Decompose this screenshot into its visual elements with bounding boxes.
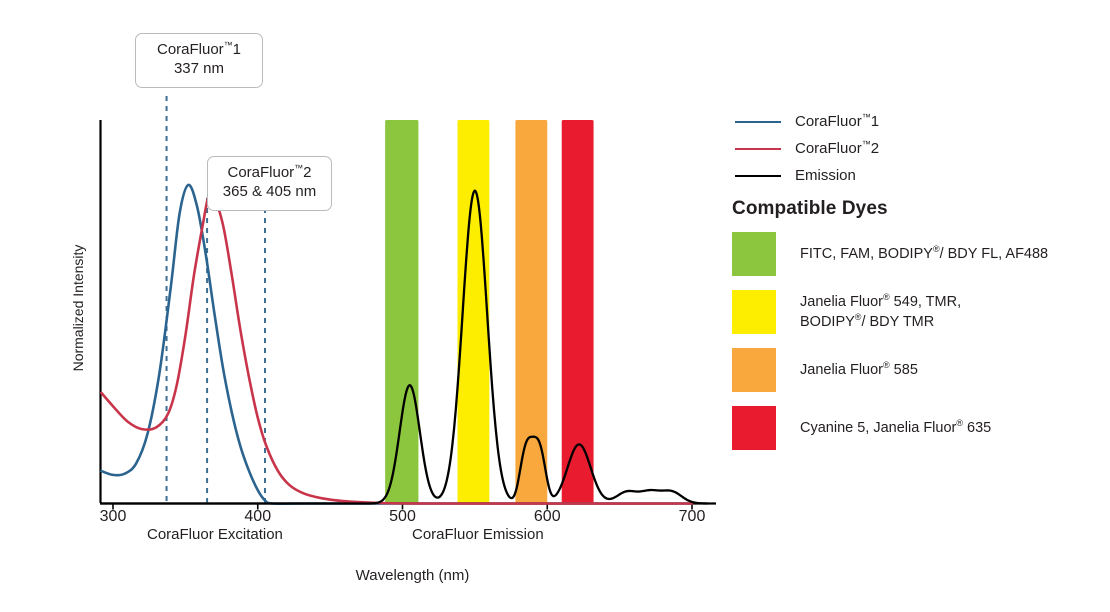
registered-icon: ® <box>883 360 890 370</box>
x-tick-label-600: 600 <box>517 508 577 526</box>
series-legend: CoraFluor™1CoraFluor™2Emission <box>730 108 1110 189</box>
dye-color-swatch <box>732 406 776 450</box>
dye-color-swatch <box>732 348 776 392</box>
x-tick-label-300: 300 <box>83 508 143 526</box>
emission-range-label: CoraFluor Emission <box>412 526 544 543</box>
x-tick-label-400: 400 <box>228 508 288 526</box>
trademark-icon: ™ <box>294 163 303 173</box>
dye-color-swatch <box>732 232 776 276</box>
legend-line-swatch <box>735 148 781 150</box>
dye-band-group <box>385 120 593 504</box>
callout-1-title: CoraFluor™1 <box>148 41 250 60</box>
legend-item-label: CoraFluor™2 <box>795 140 879 157</box>
dye-item-2[interactable]: Janelia Fluor® 549, TMR,BODIPY®/ BDY TMR <box>730 290 1110 334</box>
callout-2-title: CoraFluor™2 <box>220 164 319 183</box>
legend-item-label: CoraFluor™1 <box>795 113 879 130</box>
registered-icon: ® <box>883 292 890 302</box>
legend-item-3[interactable]: Emission <box>730 162 1110 189</box>
trademark-icon: ™ <box>862 139 871 149</box>
dye-label-line-1: Cyanine 5, Janelia Fluor® 635 <box>800 420 991 436</box>
y-axis-title: Normalized Intensity <box>70 208 86 408</box>
x-tick-label-500: 500 <box>373 508 433 526</box>
dye-item-4[interactable]: Cyanine 5, Janelia Fluor® 635 <box>730 406 1110 450</box>
callout-1-name: CoraFluor <box>157 41 224 58</box>
dye-item-label: Janelia Fluor® 549, TMR,BODIPY®/ BDY TMR <box>800 292 961 332</box>
legend-panel: CoraFluor™1CoraFluor™2Emission Compatibl… <box>730 0 1110 612</box>
dye-item-1[interactable]: FITC, FAM, BODIPY®/ BDY FL, AF488 <box>730 232 1110 276</box>
x-axis-title: Wavelength (nm) <box>0 567 825 584</box>
spectral-compatibility-figure: CoraFluor™1 337 nm CoraFluor™2 365 & 405… <box>0 0 1110 612</box>
callout-1-value: 337 nm <box>148 60 250 79</box>
compatible-dyes-list: FITC, FAM, BODIPY®/ BDY FL, AF488Janelia… <box>730 232 1110 464</box>
dye-label-line-1: Janelia Fluor® 585 <box>800 362 918 378</box>
registered-icon: ® <box>956 418 963 428</box>
callout-2-value: 365 & 405 nm <box>220 183 319 202</box>
legend-line-swatch <box>735 121 781 123</box>
dye-band-3 <box>515 120 547 504</box>
legend-item-2[interactable]: CoraFluor™2 <box>730 135 1110 162</box>
legend-line-swatch <box>735 175 781 177</box>
legend-item-1[interactable]: CoraFluor™1 <box>730 108 1110 135</box>
compatible-dyes-heading: Compatible Dyes <box>732 198 888 220</box>
x-tick-label-700: 700 <box>662 508 722 526</box>
trademark-icon: ™ <box>862 112 871 122</box>
legend-item-label: Emission <box>795 167 856 184</box>
dye-band-1 <box>385 120 418 504</box>
plot-area: CoraFluor™1 337 nm CoraFluor™2 365 & 405… <box>0 0 730 612</box>
dye-label-line-1: Janelia Fluor® 549, TMR, <box>800 294 961 310</box>
dye-label-line-2: BODIPY®/ BDY TMR <box>800 312 961 332</box>
callout-corafluor-2: CoraFluor™2 365 & 405 nm <box>207 156 332 211</box>
callout-1-suffix: 1 <box>233 41 241 58</box>
dye-color-swatch <box>732 290 776 334</box>
callout-2-name: CoraFluor <box>227 164 294 181</box>
registered-icon: ® <box>855 312 862 322</box>
dye-item-3[interactable]: Janelia Fluor® 585 <box>730 348 1110 392</box>
trademark-icon: ™ <box>224 40 233 50</box>
registered-icon: ® <box>933 244 940 254</box>
dye-item-label: Janelia Fluor® 585 <box>800 360 918 380</box>
excitation-range-label: CoraFluor Excitation <box>147 526 283 543</box>
callout-corafluor-1: CoraFluor™1 337 nm <box>135 33 263 88</box>
dye-item-label: FITC, FAM, BODIPY®/ BDY FL, AF488 <box>800 244 1048 264</box>
dye-item-label: Cyanine 5, Janelia Fluor® 635 <box>800 418 991 438</box>
callout-2-suffix: 2 <box>303 164 311 181</box>
dye-label-line-1: FITC, FAM, BODIPY®/ BDY FL, AF488 <box>800 246 1048 262</box>
